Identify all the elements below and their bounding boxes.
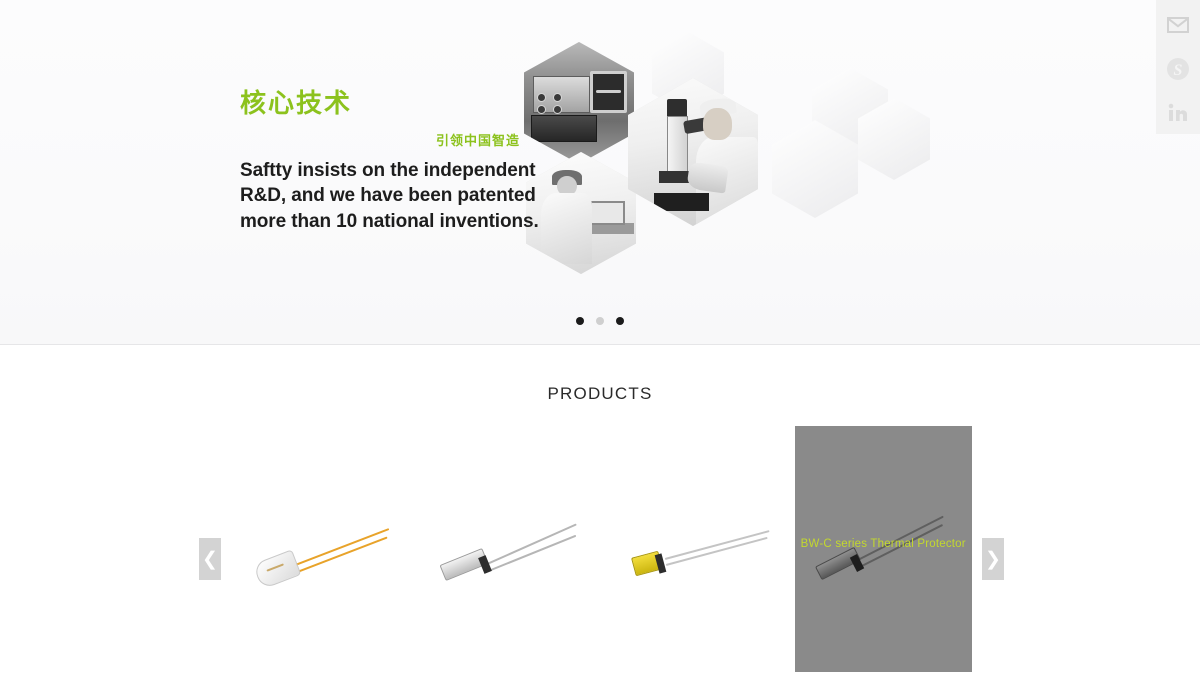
products-section-title: PRODUCTS [0, 384, 1200, 404]
banner-dot-2[interactable] [596, 317, 604, 325]
banner-carousel-dots [0, 317, 1200, 325]
product-thermal-protector-white[interactable] [232, 426, 410, 672]
products-section: PRODUCTS ❮ [0, 346, 1200, 700]
hero-english-description: Saftty insists on the independent R&D, a… [240, 158, 570, 234]
carousel-next-arrow-icon[interactable]: ❯ [982, 538, 1004, 580]
products-track: BW-C series Thermal Protector [232, 426, 982, 686]
email-icon[interactable] [1163, 10, 1193, 40]
hexagon-collage [500, 10, 980, 310]
product-thermal-protector-silver[interactable] [420, 426, 598, 672]
product-featured-caption: BW-C series Thermal Protector [795, 538, 973, 550]
svg-text:S: S [1174, 62, 1183, 79]
product-image-white [246, 494, 396, 604]
page-root: 核心技术 引领中国智造 Saftty insists on the indepe… [0, 0, 1200, 700]
product-image-silver [433, 494, 583, 604]
product-image-yellow [621, 494, 771, 604]
hero-banner-inner: 核心技术 引领中国智造 Saftty insists on the indepe… [0, 0, 1200, 344]
carousel-prev-arrow-icon[interactable]: ❮ [199, 538, 221, 580]
banner-dot-1[interactable] [576, 317, 584, 325]
social-sidebar: S [1156, 0, 1200, 134]
banner-dot-3[interactable] [616, 317, 624, 325]
linkedin-icon[interactable] [1163, 98, 1193, 128]
hero-chinese-title: 核心技术 [240, 88, 570, 119]
product-thermal-protector-yellow[interactable] [607, 426, 785, 672]
hero-banner: 核心技术 引领中国智造 Saftty insists on the indepe… [0, 0, 1200, 345]
products-carousel: ❮ [0, 426, 1200, 686]
product-bwc-series-thermal-protector[interactable]: BW-C series Thermal Protector [795, 426, 973, 672]
skype-icon[interactable]: S [1163, 54, 1193, 84]
microscope-inspection-photo [628, 78, 758, 226]
hero-chinese-subtitle: 引领中国智造 [240, 130, 570, 149]
hero-text-block: 核心技术 引领中国智造 Saftty insists on the indepe… [240, 88, 570, 234]
